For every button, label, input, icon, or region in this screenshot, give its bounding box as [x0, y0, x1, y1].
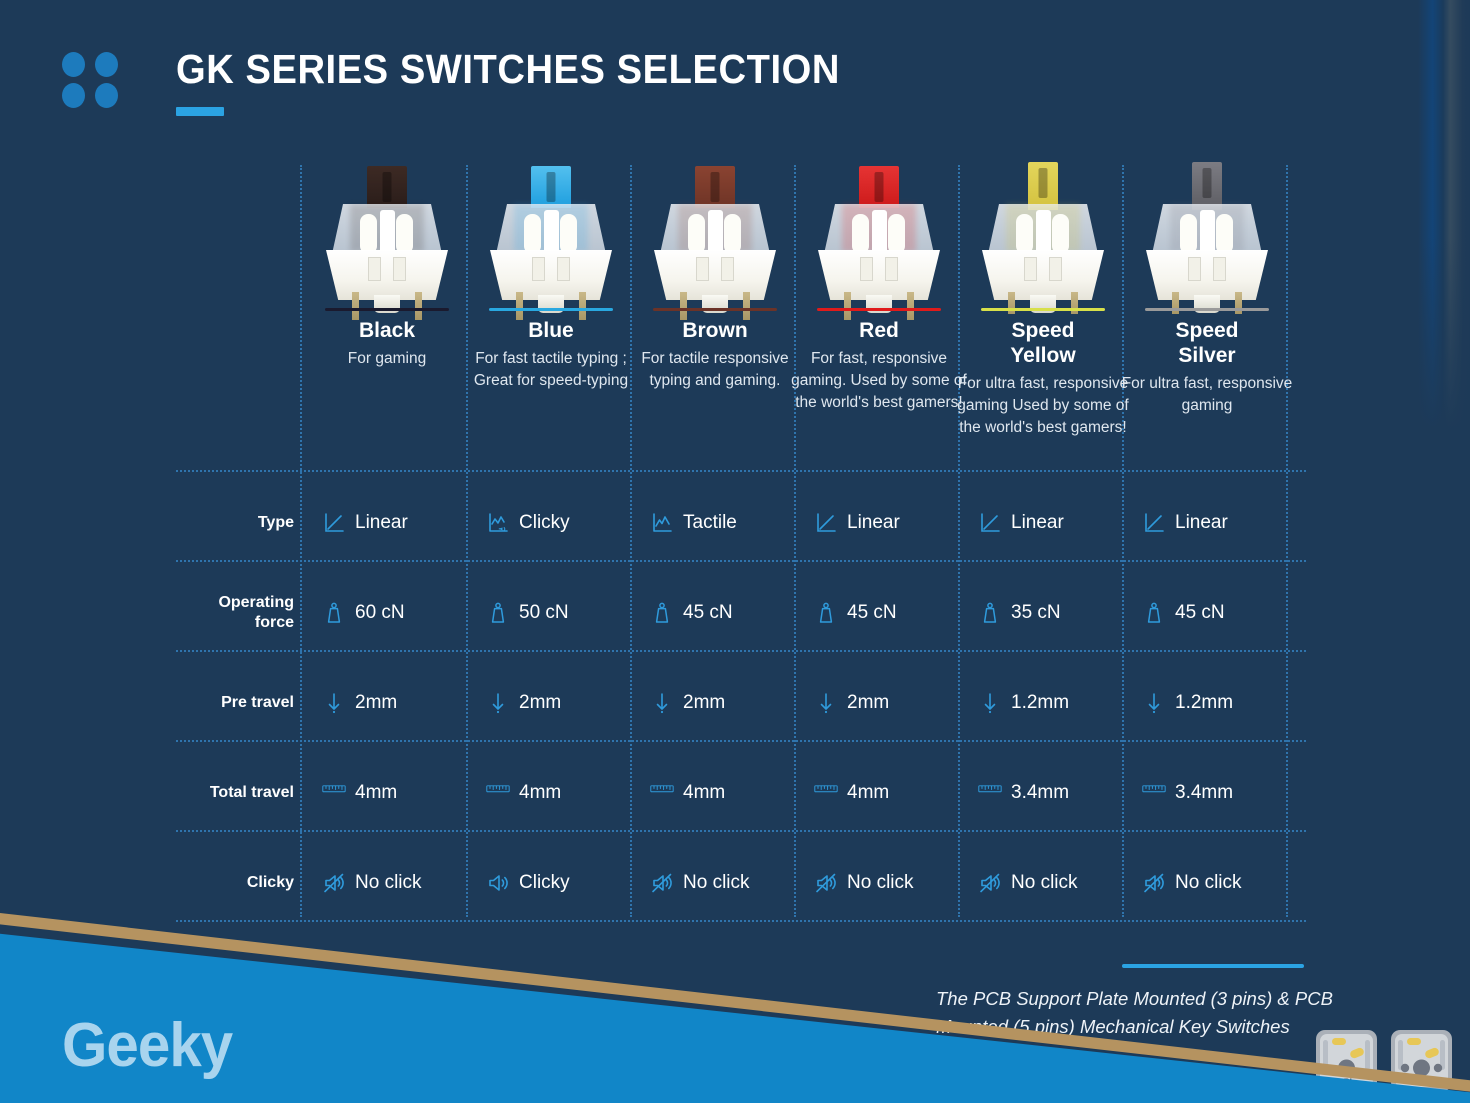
switch-base [490, 250, 612, 300]
switch-pin-left [680, 292, 687, 320]
weight-icon [322, 601, 346, 625]
switch-notch-right [721, 257, 734, 281]
weight-icon [978, 601, 1002, 625]
switch-base [326, 250, 448, 300]
ruler-icon [486, 781, 510, 805]
switch-slider [708, 210, 723, 256]
table-cell: No click [650, 863, 816, 903]
switch-illustration [980, 162, 1106, 312]
switch-slider [1036, 210, 1051, 256]
ruler-icon [1142, 781, 1166, 805]
switch-leaf-left [360, 214, 377, 254]
switch-slider [544, 210, 559, 256]
switch-leaf-right [396, 214, 413, 254]
table-cell: 35 cN [978, 593, 1144, 633]
cell-value: Tactile [683, 512, 737, 534]
switch-name: Speed Yellow [960, 318, 1126, 368]
switch-accent-rule [325, 308, 449, 311]
switch-description: For tactile responsive typing and gaming… [626, 348, 804, 392]
switch-notch-left [860, 257, 873, 281]
table-cell: 4mm [650, 773, 816, 813]
switch-image [980, 162, 1106, 312]
cell-value: 4mm [683, 782, 725, 804]
switch-name: Blue [468, 318, 634, 343]
table-cell: 45 cN [814, 593, 980, 633]
row-separator-1 [176, 560, 1306, 562]
switch-name-line-1: Speed [1124, 318, 1290, 343]
switch-accent-rule [653, 308, 777, 311]
table-cell: 1.2mm [978, 683, 1144, 723]
table-cell: Clicky [486, 863, 652, 903]
cell-value: 60 cN [355, 602, 405, 624]
switch-name-line-1: Speed [960, 318, 1126, 343]
switch-image [652, 162, 778, 312]
table-cell: 1.2mm [1142, 683, 1308, 723]
table-cell: Clicky [486, 503, 652, 543]
row-separator-3 [176, 740, 1306, 742]
row-separator-4 [176, 830, 1306, 832]
switch-stem [859, 166, 899, 208]
switch-slider [1200, 210, 1215, 256]
switch-leaf-right [560, 214, 577, 254]
table-cell: 2mm [486, 683, 652, 723]
table-cell: 4mm [486, 773, 652, 813]
brand-logo-text: Geeky [62, 1010, 232, 1081]
cell-value: No click [1011, 872, 1078, 894]
switch-notch-left [368, 257, 381, 281]
table-cell: 45 cN [650, 593, 816, 633]
row-label-line-1: Operating [176, 593, 294, 613]
switch-leaf-left [688, 214, 705, 254]
ruler-icon [814, 781, 838, 805]
switch-pin-left [844, 292, 851, 320]
switch-base [982, 250, 1104, 300]
cell-value: 1.2mm [1011, 692, 1069, 714]
cell-value: Linear [355, 512, 408, 534]
title-underline [176, 107, 224, 116]
switch-description: For fast, responsive gaming. Used by som… [790, 348, 968, 414]
speaker-on-icon [486, 871, 510, 895]
switch-accent-rule [981, 308, 1105, 311]
switch-description: For fast tactile typing ; Great for spee… [462, 348, 640, 392]
switch-accent-rule [1145, 308, 1269, 311]
chart-linear-icon [978, 511, 1002, 535]
switch-name-line-1: Black [304, 318, 470, 343]
switch-image [1144, 162, 1270, 312]
switch-accent-rule [489, 308, 613, 311]
table-cell: 2mm [814, 683, 980, 723]
column-separator-0 [300, 165, 302, 917]
cell-value: 2mm [355, 692, 397, 714]
switch-name-line-2: Yellow [960, 343, 1126, 368]
cell-value: 3.4mm [1175, 782, 1233, 804]
row-separator-0 [176, 470, 1306, 472]
table-cell: 2mm [322, 683, 488, 723]
row-label-line-1: Total travel [176, 783, 294, 803]
header: GK SERIES SWITCHES SELECTION [0, 0, 1470, 140]
row-label-line-1: Pre travel [176, 693, 294, 713]
chart-linear-icon [1142, 511, 1166, 535]
table-cell: No click [978, 863, 1144, 903]
table-cell: No click [322, 863, 488, 903]
switch-image [324, 162, 450, 312]
row-label-pre-travel: Pre travel [176, 693, 294, 713]
switch-stem [1192, 162, 1222, 210]
switch-slider [872, 210, 887, 256]
switch-leaf-left [1016, 214, 1033, 254]
switch-notch-right [1049, 257, 1062, 281]
comparison-table: Black For gaming Blue For fast tactile t… [176, 160, 1306, 920]
switch-leaf-left [1180, 214, 1197, 254]
cell-value: 1.2mm [1175, 692, 1233, 714]
table-cell: 45 cN [1142, 593, 1308, 633]
table-cell: Linear [814, 503, 980, 543]
switch-base [818, 250, 940, 300]
switch-name-line-1: Blue [468, 318, 634, 343]
switch-stem [367, 166, 407, 208]
switch-notch-left [1024, 257, 1037, 281]
switch-notch-left [532, 257, 545, 281]
speaker-muted-icon [1142, 871, 1166, 895]
switch-base [654, 250, 776, 300]
row-separator-2 [176, 650, 1306, 652]
chart-tactile-icon [650, 511, 674, 535]
cell-value: Linear [847, 512, 900, 534]
switch-leaf-right [1052, 214, 1069, 254]
table-cell: Linear [1142, 503, 1308, 543]
switch-leaf-left [524, 214, 541, 254]
cell-value: 4mm [355, 782, 397, 804]
cell-value: Linear [1011, 512, 1064, 534]
switch-leaf-right [724, 214, 741, 254]
row-label-line-1: Type [176, 513, 294, 533]
switch-leaf-left [852, 214, 869, 254]
switch-slider [380, 210, 395, 256]
cell-value: 45 cN [1175, 602, 1225, 624]
arrow-down-icon [1142, 691, 1166, 715]
cell-value: No click [355, 872, 422, 894]
row-label-clicky: Clicky [176, 873, 294, 893]
switch-notch-right [557, 257, 570, 281]
table-cell: 50 cN [486, 593, 652, 633]
table-cell: Linear [322, 503, 488, 543]
row-label-total-travel: Total travel [176, 783, 294, 803]
arrow-down-icon [978, 691, 1002, 715]
cell-value: 2mm [683, 692, 725, 714]
row-label-line-1: Clicky [176, 873, 294, 893]
cell-value: Linear [1175, 512, 1228, 534]
cell-value: No click [847, 872, 914, 894]
switch-notch-right [885, 257, 898, 281]
switch-illustration [324, 162, 450, 312]
switch-leaf-right [1216, 214, 1233, 254]
switch-stem [695, 166, 735, 208]
switch-stem [1028, 162, 1058, 210]
switch-name: Brown [632, 318, 798, 343]
table-cell: 60 cN [322, 593, 488, 633]
weight-icon [650, 601, 674, 625]
switch-pin-left [352, 292, 359, 320]
cell-value: No click [683, 872, 750, 894]
switch-name: Speed Silver [1124, 318, 1290, 368]
row-label-type: Type [176, 513, 294, 533]
speaker-muted-icon [978, 871, 1002, 895]
table-cell: 3.4mm [978, 773, 1144, 813]
switch-notch-left [696, 257, 709, 281]
switch-description: For ultra fast, responsive gaming Used b… [954, 373, 1132, 439]
table-cell: Linear [978, 503, 1144, 543]
switch-pin-right [415, 292, 422, 320]
speaker-muted-icon [322, 871, 346, 895]
speaker-muted-icon [814, 871, 838, 895]
cell-value: Clicky [519, 512, 570, 534]
table-cell: Tactile [650, 503, 816, 543]
switch-stem [531, 166, 571, 208]
switch-image [816, 162, 942, 312]
switch-pin-right [743, 292, 750, 320]
switch-illustration [652, 162, 778, 312]
switch-accent-rule [817, 308, 941, 311]
chart-linear-icon [322, 511, 346, 535]
switch-pin-right [907, 292, 914, 320]
switch-image [488, 162, 614, 312]
ruler-icon [322, 781, 346, 805]
ruler-icon [978, 781, 1002, 805]
cell-value: 4mm [519, 782, 561, 804]
table-cell: No click [814, 863, 980, 903]
speaker-muted-icon [650, 871, 674, 895]
footer-band: Geeky [0, 913, 1470, 1103]
row-label-operating-force: Operatingforce [176, 593, 294, 633]
switch-notch-left [1188, 257, 1201, 281]
page-title: GK SERIES SWITCHES SELECTION [176, 46, 840, 93]
cell-value: 2mm [847, 692, 889, 714]
arrow-down-icon [650, 691, 674, 715]
table-cell: 4mm [814, 773, 980, 813]
cell-value: 35 cN [1011, 602, 1061, 624]
switch-name-line-2: Silver [1124, 343, 1290, 368]
arrow-down-icon [814, 691, 838, 715]
switch-name: Red [796, 318, 962, 343]
switch-name-line-1: Red [796, 318, 962, 343]
cell-value: 4mm [847, 782, 889, 804]
switch-pin-left [516, 292, 523, 320]
cell-value: 3.4mm [1011, 782, 1069, 804]
switch-name-line-1: Brown [632, 318, 798, 343]
weight-icon [814, 601, 838, 625]
cell-value: Clicky [519, 872, 570, 894]
switch-description: For ultra fast, responsive gaming [1118, 373, 1296, 417]
ruler-icon [650, 781, 674, 805]
switch-notch-right [393, 257, 406, 281]
switch-notch-right [1213, 257, 1226, 281]
switch-description: For gaming [298, 348, 476, 370]
cell-value: 50 cN [519, 602, 569, 624]
switch-illustration [816, 162, 942, 312]
weight-icon [486, 601, 510, 625]
four-dots-logo [62, 52, 118, 108]
cell-value: 45 cN [847, 602, 897, 624]
cell-value: 2mm [519, 692, 561, 714]
switch-base [1146, 250, 1268, 300]
arrow-down-icon [486, 691, 510, 715]
switch-pin-right [579, 292, 586, 320]
table-cell: 2mm [650, 683, 816, 723]
table-cell: 3.4mm [1142, 773, 1308, 813]
table-cell: No click [1142, 863, 1308, 903]
switch-name: Black [304, 318, 470, 343]
infographic-poster: GK SERIES SWITCHES SELECTION Black For g… [0, 0, 1470, 1103]
cell-value: No click [1175, 872, 1242, 894]
switch-leaf-right [888, 214, 905, 254]
chart-linear-icon [814, 511, 838, 535]
switch-illustration [1144, 162, 1270, 312]
arrow-down-icon [322, 691, 346, 715]
switch-illustration [488, 162, 614, 312]
chart-clicky-icon [486, 511, 510, 535]
cell-value: 45 cN [683, 602, 733, 624]
weight-icon [1142, 601, 1166, 625]
row-label-line-2: force [176, 613, 294, 633]
table-cell: 4mm [322, 773, 488, 813]
